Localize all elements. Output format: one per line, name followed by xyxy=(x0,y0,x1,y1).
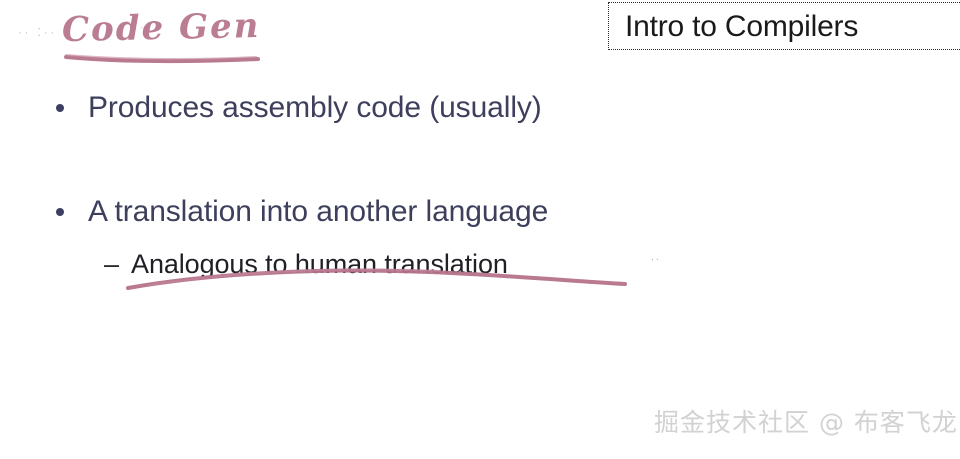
bullet-item-label: Produces assembly code (usually) xyxy=(88,88,542,128)
ink-speck-left: ·· ⁚·· xyxy=(18,26,57,39)
bullet-item: A translation into another language xyxy=(56,192,548,232)
ink-speck-mid: · · xyxy=(140,22,162,34)
underline-code-gen-highlight xyxy=(66,55,256,59)
slide-canvas: Intro to Compilers Produces assembly cod… xyxy=(0,0,960,459)
bullet-dot-icon xyxy=(56,208,64,216)
slide-title-box: Intro to Compilers xyxy=(608,2,960,50)
bullet-item-label: A translation into another language xyxy=(88,192,548,232)
dash-marker-icon: – xyxy=(104,246,119,282)
handwritten-note: Code Gen xyxy=(62,6,261,50)
sub-bullet-item: – Analogous to human translation xyxy=(104,246,508,282)
ink-speck-right: ۰۰ xyxy=(650,254,660,265)
bullet-item: Produces assembly code (usually) xyxy=(56,88,542,128)
bullet-dot-icon xyxy=(56,104,64,112)
watermark: 掘金技术社区 @ 布客飞龙 xyxy=(654,406,958,440)
sub-bullet-item-label: Analogous to human translation xyxy=(131,246,508,282)
underline-code-gen xyxy=(66,57,258,61)
page-title: Intro to Compilers xyxy=(625,6,858,48)
